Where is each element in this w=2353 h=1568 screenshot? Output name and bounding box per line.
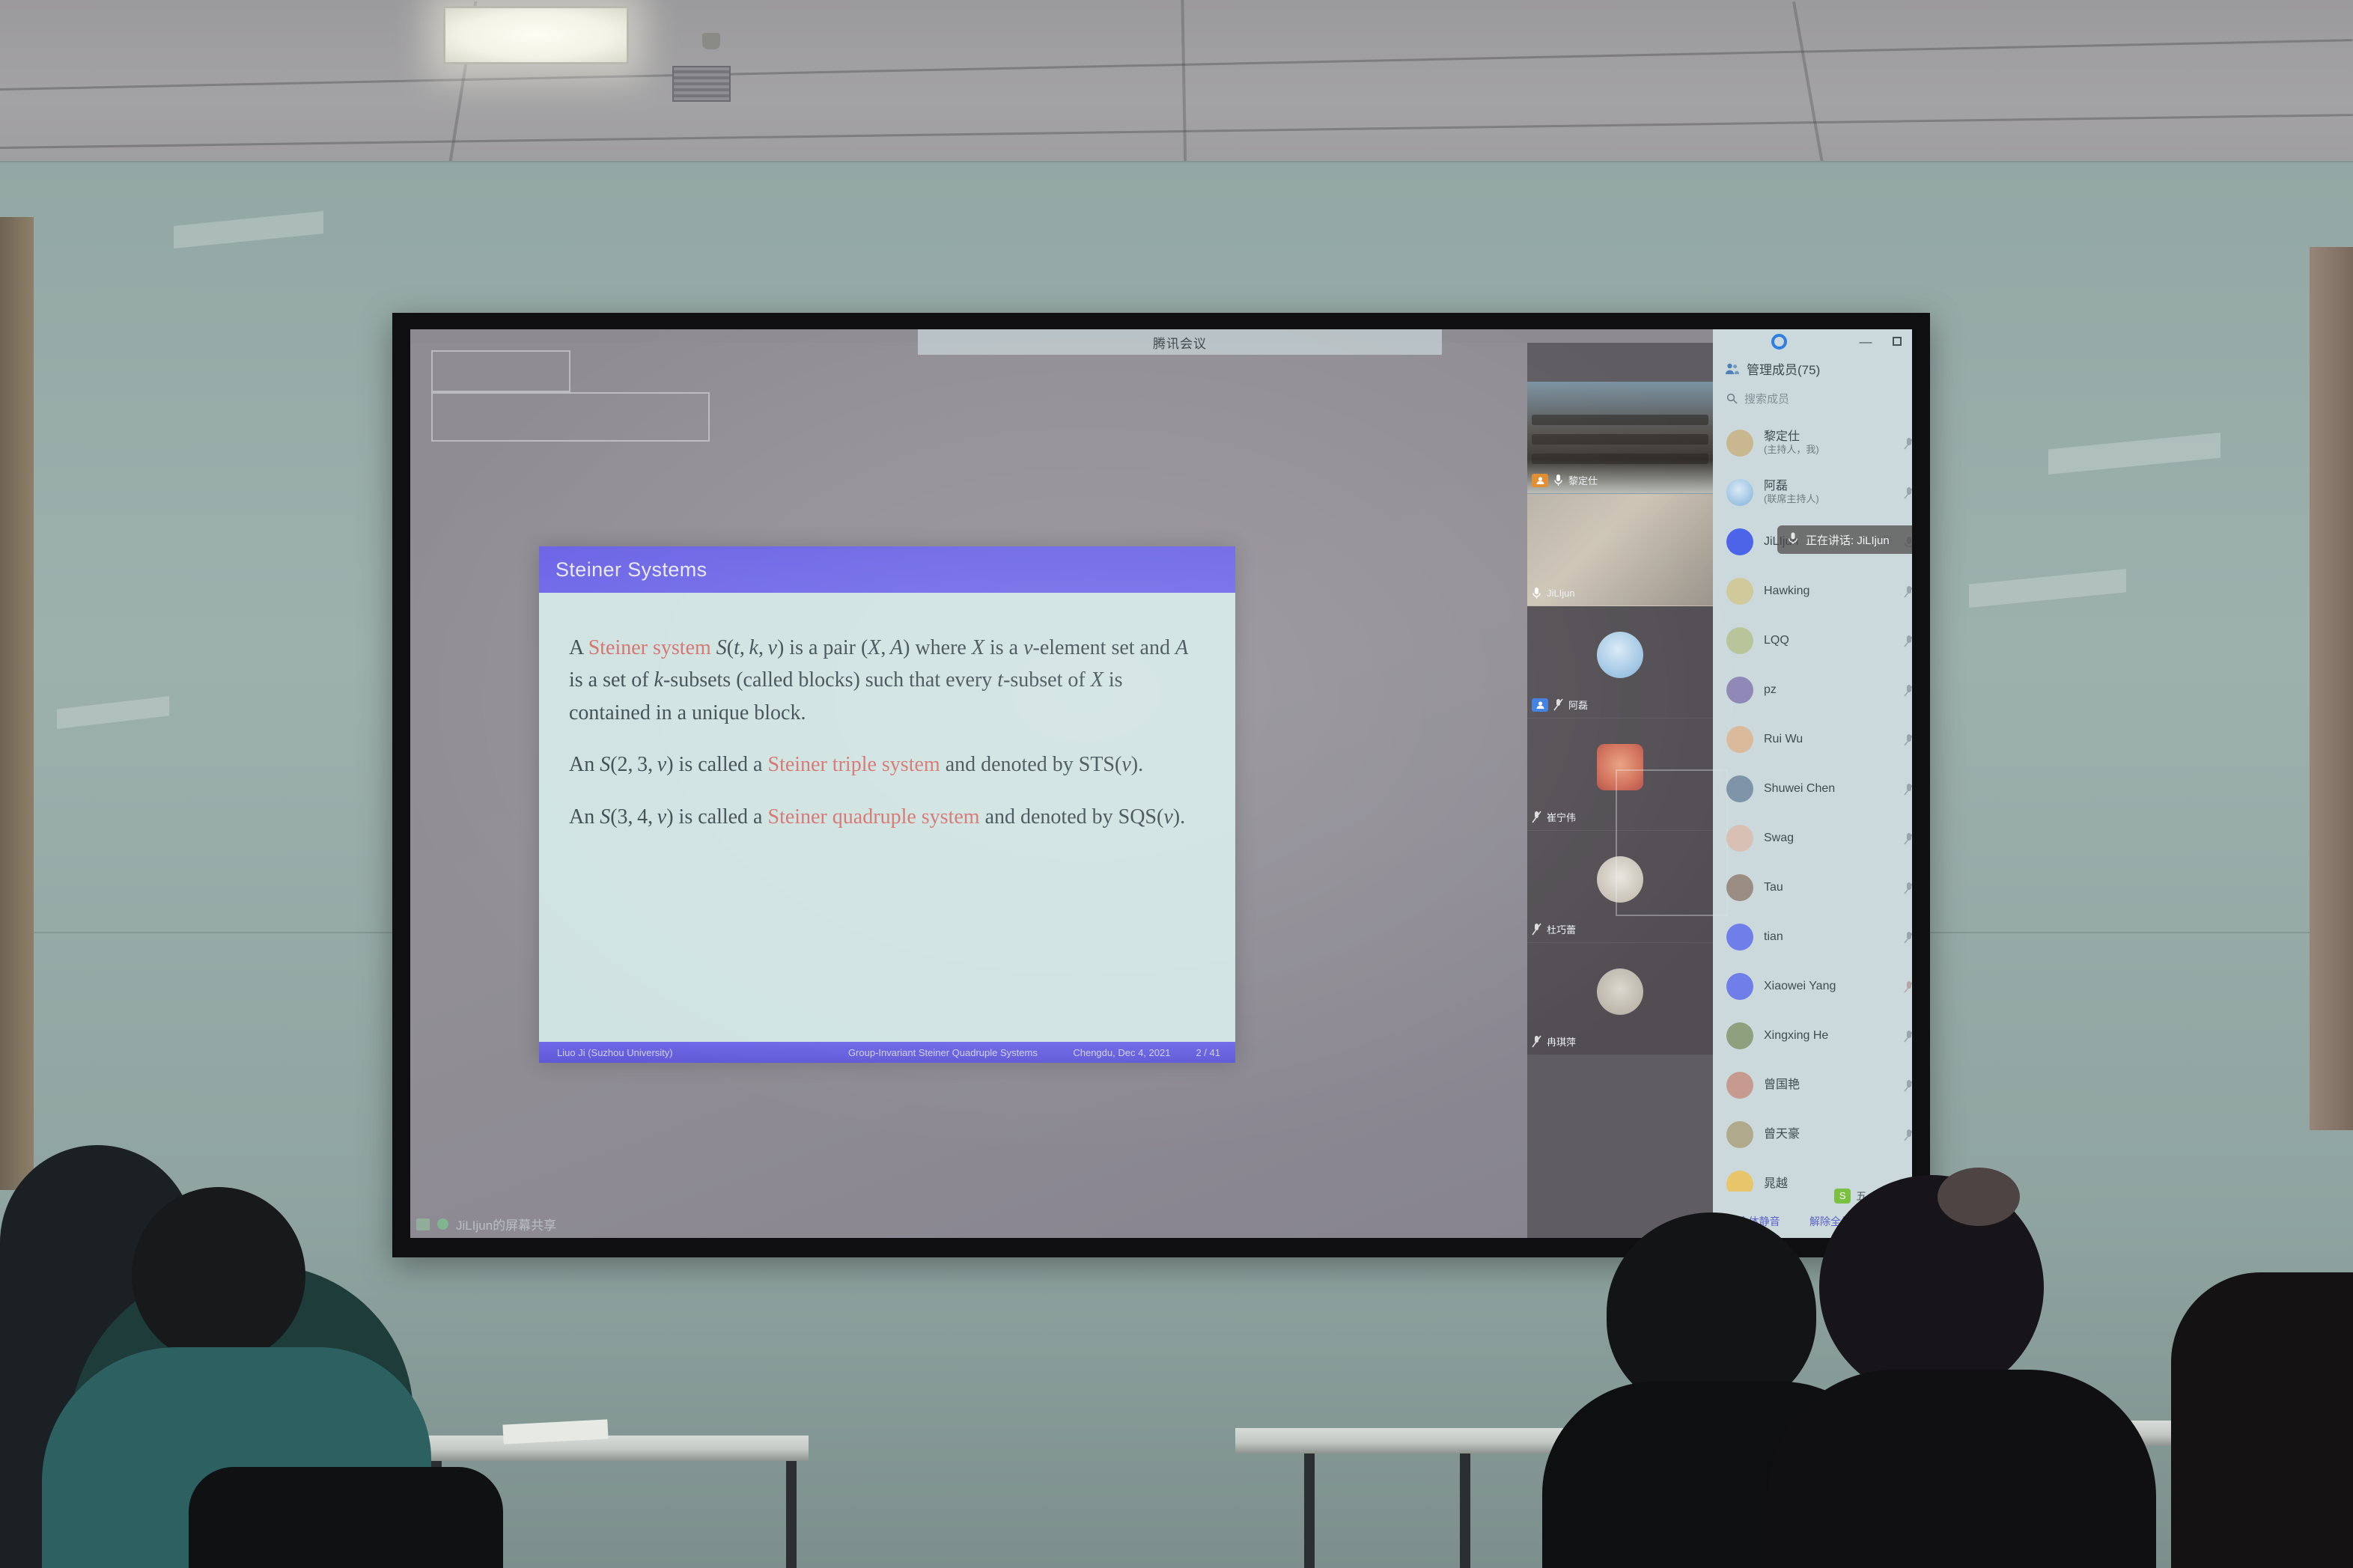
avatar — [1726, 479, 1753, 506]
participant-name: pz — [1764, 683, 1777, 697]
app-title: 腾讯会议 — [1153, 333, 1207, 352]
mic-muted-icon[interactable] — [1903, 733, 1912, 747]
participant-name: Xingxing He — [1764, 1029, 1828, 1043]
ghost-overlay-rect-2 — [431, 392, 710, 442]
avatar — [1726, 1171, 1753, 1192]
panel-header: 管理成员(75) ⤢ ✕ — [1713, 355, 1912, 382]
participant-controls[interactable] — [1903, 486, 1912, 500]
avatar — [1726, 430, 1753, 457]
people-icon — [1725, 362, 1739, 375]
audience-person — [2171, 1272, 2353, 1568]
wall-trim-right — [2310, 247, 2353, 1130]
mic-muted-icon — [1532, 811, 1541, 823]
video-tile-label: 阿磊 — [1532, 698, 1588, 712]
tencent-meeting-window: Steiner Systems A Steiner system S(t, k,… — [410, 329, 1912, 1238]
mic-icon — [1788, 531, 1798, 548]
participant-controls[interactable] — [1903, 832, 1912, 846]
mic-muted-icon[interactable] — [1903, 634, 1912, 648]
slide-footer-venue-date: Chengdu, Dec 4, 2021 — [1073, 1047, 1170, 1058]
avatar — [1726, 1121, 1753, 1148]
mic-muted-icon[interactable] — [1903, 930, 1912, 945]
participant-name: 黎定仕 — [1764, 430, 1819, 444]
list-item[interactable]: Xiaowei Yang — [1713, 962, 1912, 1011]
avatar — [1726, 677, 1753, 704]
mic-muted-icon[interactable] — [1903, 1079, 1912, 1093]
panel-title: 管理成员(75) — [1747, 359, 1820, 378]
slide-footer: Liuo Ji (Suzhou University) Group-Invari… — [539, 1042, 1235, 1063]
participant-name: Rui Wu — [1764, 733, 1803, 746]
host-badge-icon — [1532, 698, 1548, 712]
ime-logo-icon: S — [1834, 1189, 1851, 1204]
list-item[interactable]: 阿磊 (联席主持人) — [1713, 468, 1912, 517]
mic-muted-icon — [1532, 923, 1541, 936]
avatar — [1726, 627, 1753, 654]
participant-avatar — [1597, 632, 1643, 678]
video-thumbnail-strip[interactable]: 黎定仕 JiLIjun — [1527, 343, 1713, 1238]
video-tile-name: JiLIjun — [1547, 588, 1575, 599]
slide-body: A Steiner system S(t, k, v) is a pair (X… — [539, 593, 1235, 1033]
participant-controls[interactable] — [1903, 782, 1912, 796]
video-tile-name: 冉琪萍 — [1547, 1034, 1576, 1049]
list-item[interactable]: Rui Wu — [1713, 715, 1912, 764]
participant-controls[interactable] — [1903, 1079, 1912, 1093]
slide-header-band: Steiner Systems — [539, 546, 1235, 593]
mic-muted-icon[interactable] — [1903, 980, 1912, 994]
participant-controls[interactable] — [1903, 980, 1912, 994]
app-logo-icon — [1771, 334, 1787, 350]
list-item[interactable]: tian — [1713, 912, 1912, 962]
desk-leg — [786, 1461, 797, 1568]
monitor-icon — [416, 1218, 430, 1230]
search-placeholder: 搜索成员 — [1744, 391, 1789, 406]
slide-paragraph-definition: A Steiner system S(t, k, v) is a pair (X… — [569, 632, 1195, 729]
video-tile-name: 阿磊 — [1568, 698, 1588, 712]
slide-paragraph-sts: An S(2, 3, v) is called a Steiner triple… — [569, 748, 1195, 781]
slide-paragraph-sqs: An S(3, 4, v) is called a Steiner quadru… — [569, 801, 1195, 833]
ceiling-light-panel — [443, 6, 629, 64]
participant-name: 晁越 — [1764, 1177, 1788, 1191]
slide-footer-talk-title: Group-Invariant Steiner Quadruple System… — [818, 1047, 1068, 1058]
slide-footer-page-number: 2 / 41 — [1196, 1047, 1220, 1058]
presentation-slide: Steiner Systems A Steiner system S(t, k,… — [539, 546, 1235, 1063]
participant-controls[interactable] — [1903, 634, 1912, 648]
video-tile[interactable]: JiLIjun — [1527, 494, 1713, 606]
fire-sprinkler — [702, 33, 720, 49]
host-badge-icon — [1532, 474, 1548, 487]
participant-name: tian — [1764, 930, 1783, 944]
wall-trim-left — [0, 217, 34, 1190]
participant-controls[interactable] — [1903, 683, 1912, 698]
desk-left — [419, 1436, 809, 1461]
search-member-field[interactable]: 搜索成员 — [1726, 388, 1912, 408]
list-item[interactable]: Shuwei Chen — [1713, 764, 1912, 814]
list-item[interactable]: LQQ — [1713, 616, 1912, 665]
list-item[interactable]: Xingxing He — [1713, 1011, 1912, 1061]
audience-person-bun — [1938, 1168, 2020, 1226]
audience-person — [189, 1467, 503, 1568]
app-title-bar: 腾讯会议 — [918, 329, 1442, 355]
mic-muted-icon — [1553, 474, 1563, 486]
list-item[interactable]: 曾天豪 — [1713, 1110, 1912, 1159]
participant-name: 曾天豪 — [1764, 1128, 1800, 1141]
avatar — [1726, 1022, 1753, 1049]
mic-muted-icon[interactable] — [1903, 881, 1912, 895]
projection-screen: Steiner Systems A Steiner system S(t, k,… — [410, 329, 1912, 1238]
presenter-dot-icon — [437, 1218, 448, 1230]
list-item[interactable]: 曾国艳 — [1713, 1061, 1912, 1110]
video-tile-name: 黎定仕 — [1568, 473, 1598, 487]
participant-controls[interactable] — [1903, 1128, 1912, 1142]
mic-muted-icon[interactable] — [1903, 782, 1912, 796]
panel-title-bar: — ✕ — [1713, 329, 1912, 355]
mic-muted-icon — [1532, 587, 1541, 600]
participant-avatar — [1597, 968, 1643, 1015]
speaking-toast-label: 正在讲话: JiLIjun — [1806, 532, 1890, 548]
video-tile-name: 崔宁伟 — [1547, 810, 1576, 824]
avatar — [1726, 825, 1753, 852]
participant-name: 阿磊 — [1764, 480, 1819, 493]
mic-muted-icon[interactable] — [1903, 436, 1912, 451]
mic-muted-icon[interactable] — [1903, 585, 1912, 599]
participant-controls[interactable] — [1903, 585, 1912, 599]
ghost-overlay-rect-1 — [431, 350, 570, 392]
list-item[interactable]: 黎定仕 (主持人，我) — [1713, 418, 1912, 468]
mic-muted-icon[interactable] — [1903, 1029, 1912, 1043]
mic-muted-icon[interactable] — [1903, 1128, 1912, 1142]
desk-leg — [1460, 1453, 1470, 1568]
slide-footer-author: Liuo Ji (Suzhou University) — [539, 1047, 818, 1058]
participant-controls[interactable] — [1903, 436, 1912, 451]
selection-outline — [1616, 769, 1728, 916]
list-item[interactable]: pz — [1713, 665, 1912, 715]
avatar — [1726, 973, 1753, 1000]
maximize-button[interactable] — [1890, 335, 1905, 350]
participants-panel: — ✕ 管理成员(75) ⤢ ✕ — [1713, 329, 1912, 1238]
avatar — [1726, 1072, 1753, 1099]
avatar — [1726, 874, 1753, 901]
screen-share-label: JiLIjun的屏幕共享 — [456, 1215, 556, 1233]
desk-leg — [1304, 1453, 1315, 1568]
video-tile-label: 杜巧蕾 — [1532, 922, 1576, 936]
audience-person-head — [132, 1187, 305, 1364]
participant-name: Hawking — [1764, 585, 1809, 598]
video-tile-label: 冉琪萍 — [1532, 1034, 1576, 1049]
participant-name: Tau — [1764, 881, 1783, 894]
projection-screen-frame: Steiner Systems A Steiner system S(t, k,… — [392, 313, 1930, 1257]
list-item[interactable]: Tau — [1713, 863, 1912, 912]
participant-controls[interactable] — [1903, 930, 1912, 945]
shared-screen-region: Steiner Systems A Steiner system S(t, k,… — [410, 343, 1527, 1238]
video-tile-label: 黎定仕 — [1532, 473, 1598, 487]
avatar — [1726, 924, 1753, 951]
video-tile[interactable]: 阿磊 — [1527, 606, 1713, 719]
participant-controls[interactable] — [1903, 733, 1912, 747]
audience-person-body — [1767, 1370, 2156, 1568]
mic-muted-icon — [1532, 1035, 1541, 1048]
participant-name: Swag — [1764, 832, 1794, 845]
participant-name: LQQ — [1764, 634, 1789, 647]
speaking-toast: 正在讲话: JiLIjun — [1777, 525, 1912, 554]
screen-share-banner: JiLIjun的屏幕共享 — [416, 1215, 556, 1233]
search-icon — [1726, 393, 1738, 404]
mic-muted-icon[interactable] — [1903, 832, 1912, 846]
video-tile-name: 杜巧蕾 — [1547, 922, 1576, 936]
participant-name: 曾国艳 — [1764, 1079, 1800, 1092]
video-tile-label: 崔宁伟 — [1532, 810, 1576, 824]
mic-muted-icon[interactable] — [1903, 486, 1912, 500]
participant-name: Xiaowei Yang — [1764, 980, 1836, 993]
avatar — [1726, 578, 1753, 605]
participant-controls[interactable] — [1903, 1029, 1912, 1043]
avatar — [1726, 726, 1753, 753]
participant-role: (主持人，我) — [1764, 445, 1819, 456]
avatar — [1726, 775, 1753, 802]
avatar — [1726, 528, 1753, 555]
ceiling-air-vent — [672, 66, 731, 102]
participant-controls[interactable] — [1903, 881, 1912, 895]
mic-muted-icon[interactable] — [1903, 683, 1912, 698]
list-item[interactable]: Hawking — [1713, 567, 1912, 616]
slide-title: Steiner Systems — [539, 558, 707, 582]
list-item[interactable]: Swag — [1713, 814, 1912, 863]
video-tile[interactable]: 冉琪萍 — [1527, 943, 1713, 1055]
lecture-room-scene: Steiner Systems A Steiner system S(t, k,… — [0, 0, 2353, 1568]
minimize-button[interactable]: — — [1858, 335, 1873, 350]
participant-role: (联席主持人) — [1764, 494, 1819, 505]
video-tile[interactable]: 黎定仕 — [1527, 382, 1713, 494]
video-tile-label: JiLIjun — [1532, 587, 1575, 600]
mic-muted-icon — [1553, 698, 1563, 711]
participant-name: Shuwei Chen — [1764, 782, 1835, 796]
